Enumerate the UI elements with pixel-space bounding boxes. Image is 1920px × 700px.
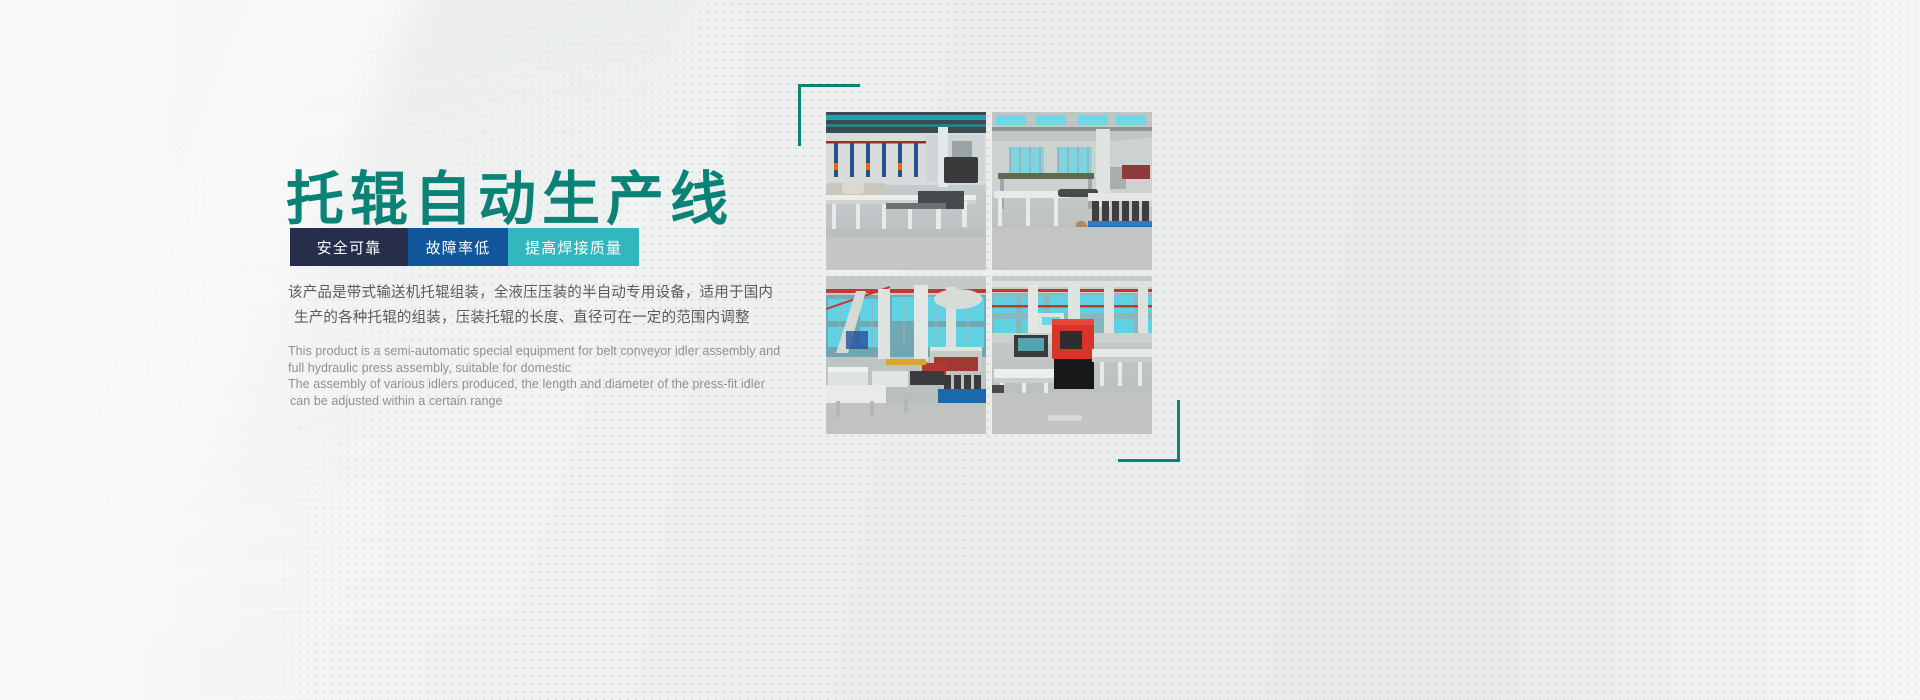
description-english-line-3: The assembly of various idlers produced,… [288,376,758,393]
feature-tag-row: 安全可靠 故障率低 提高焊接质量 [290,228,639,266]
description-english: This product is a semi-automatic special… [288,343,758,409]
page-title: 托辊自动生产线 [286,170,734,231]
photo-gallery [826,112,1152,434]
factory-conveyor-line-image [826,112,986,270]
description-chinese-line-1: 该产品是带式输送机托辊组装，全液压压装的半自动专用设备，适用于国内 [288,281,758,306]
banner-content: 托辊自动生产线 安全可靠 故障率低 提高焊接质量 该产品是带式输送机托辊组装，全… [0,0,1920,700]
gallery-photo-4[interactable] [992,276,1152,434]
description-english-line-4: can be adjusted within a certain range [288,393,758,410]
description-english-line-1: This product is a semi-automatic special… [288,343,758,360]
factory-workstation-with-idler-bin-image [992,112,1152,270]
gallery-photo-3[interactable] [826,276,986,434]
description-english-line-2: full hydraulic press assembly, suitable … [288,360,758,377]
gallery-photo-1[interactable] [826,112,986,270]
factory-welding-assembly-equipment-image [826,276,986,434]
feature-tag-safe-reliable[interactable]: 安全可靠 [290,228,408,266]
feature-tag-weld-quality[interactable]: 提高焊接质量 [508,228,639,266]
photo-grid [826,112,1152,434]
factory-red-machine-and-roller-table-image [992,276,1152,434]
feature-tag-low-failure[interactable]: 故障率低 [408,228,508,266]
description-chinese-line-2: 生产的各种托辊的组装，压装托辊的长度、直径可在一定的范围内调整 [288,306,758,331]
gallery-photo-2[interactable] [992,112,1152,270]
description-chinese: 该产品是带式输送机托辊组装，全液压压装的半自动专用设备，适用于国内 生产的各种托… [288,281,758,331]
